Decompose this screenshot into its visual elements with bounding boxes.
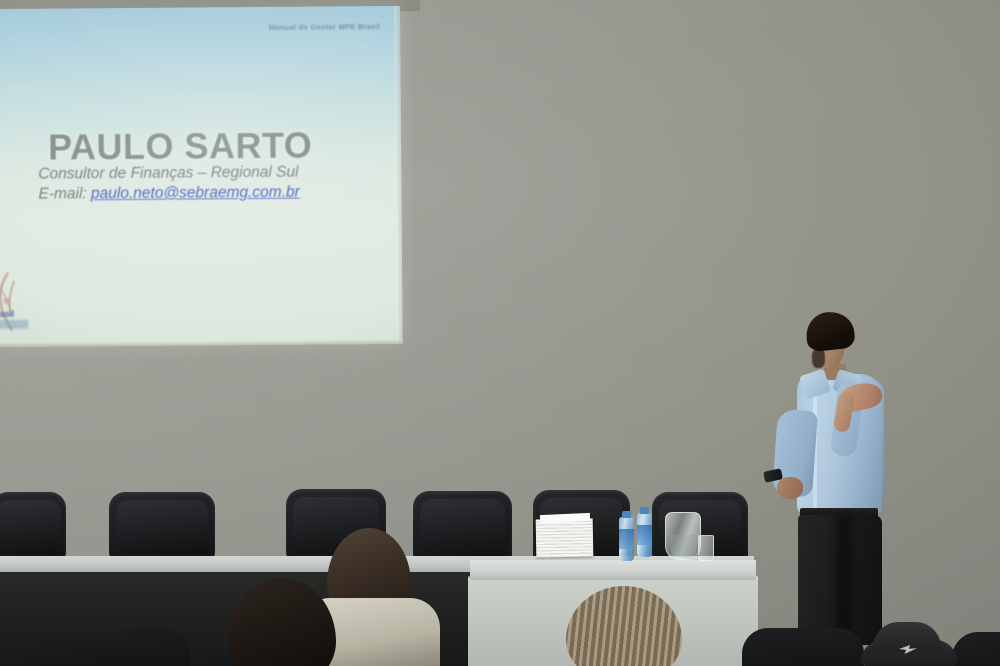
presenter-hair — [804, 310, 856, 353]
slide-email-link[interactable]: paulo.neto@sebraemg.com.br — [91, 184, 300, 203]
lecture-room-photo: Manual do Gestor MPE Brasil PAULO SARTO … — [0, 0, 1000, 666]
slide-email-label: E-mail: — [38, 185, 86, 202]
foreground-chair — [30, 628, 190, 666]
foreground-chair — [742, 628, 864, 666]
mpe-brasil-logo-icon — [0, 267, 43, 341]
water-bottle — [637, 513, 652, 557]
bottle-label — [619, 529, 634, 549]
drinking-glass — [698, 535, 714, 561]
paper-stack — [536, 519, 594, 558]
presenter-trousers-shadow — [836, 515, 852, 645]
water-bottle — [619, 517, 634, 561]
water-pitcher — [665, 512, 701, 560]
slide-header-text: Manual do Gestor MPE Brasil — [269, 22, 380, 32]
bottle-cap — [622, 511, 631, 518]
bottle-cap — [640, 507, 649, 514]
projected-slide: Manual do Gestor MPE Brasil PAULO SARTO … — [0, 6, 403, 347]
slide-subtitle: Consultor de Finanças – Regional Sul — [38, 164, 298, 184]
presenter-lower-hand — [777, 477, 803, 499]
back-chair — [109, 492, 215, 558]
table-top-right — [470, 560, 756, 580]
slide-logo-bar — [0, 320, 29, 329]
presenter — [740, 312, 930, 666]
back-chair — [413, 491, 512, 560]
slide-email-line: E-mail: paulo.neto@sebraemg.com.br — [38, 184, 299, 204]
back-chair — [0, 492, 66, 558]
bottle-label — [637, 525, 652, 545]
slide-logo-wordmark: rasil — [0, 309, 14, 319]
slide-title: PAULO SARTO — [48, 125, 313, 169]
